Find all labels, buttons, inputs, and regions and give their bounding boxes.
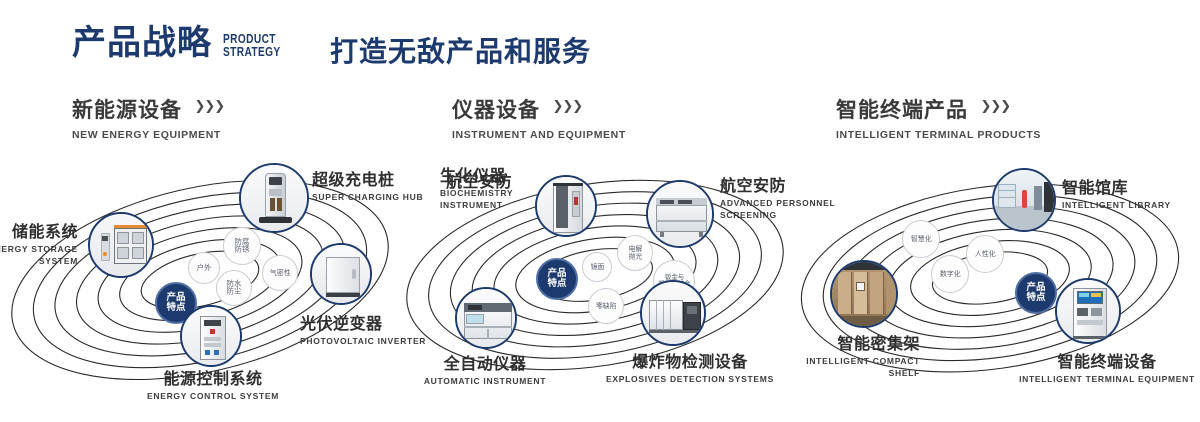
- node-label-cn: 能源控制系统: [108, 365, 318, 389]
- section-heading-cn: 仪器设备: [452, 94, 540, 124]
- control-cabinet-photo: [182, 307, 240, 365]
- node-label-energy-control: 能源控制系统 ENERGY CONTROL SYSTEM: [108, 365, 318, 401]
- feature-bubble-line2: 防锈: [235, 246, 250, 254]
- compact-shelf-photo: [832, 262, 896, 326]
- section-heading-terminal: 智能终端产品 ❯❯❯ INTELLIGENT TERMINAL PRODUCTS: [836, 94, 1041, 141]
- node-label-cn: 全自动仪器: [395, 350, 575, 374]
- automatic-instrument-photo: [457, 289, 515, 347]
- terminal-kiosk-photo: [1057, 280, 1119, 342]
- page-title: 产品战略: [72, 26, 212, 60]
- feature-bubble-zero-defect: 零缺陷: [588, 288, 624, 324]
- explosives-detector-photo: [642, 282, 704, 344]
- feature-bubble-waterproof: 防水 防尘: [216, 270, 252, 306]
- core-bubble: 产品 特点: [1015, 272, 1057, 314]
- personnel-screening-photo: [648, 182, 712, 246]
- node-label-en-line1: BIOCHEMISTRY: [440, 188, 570, 198]
- node-photovoltaic-inverter[interactable]: [310, 243, 372, 305]
- feature-bubble-mirror: 镜面: [582, 252, 612, 282]
- page-title-english-line2: STRATEGY: [223, 45, 281, 58]
- core-bubble-line2: 特点: [547, 279, 566, 289]
- feature-bubble-label: 数字化: [940, 270, 961, 277]
- feature-bubble-label: 户外: [197, 264, 212, 272]
- section-heading-instrument: 仪器设备 ❯❯❯ INSTRUMENT AND EQUIPMENT: [452, 94, 626, 141]
- node-label-cn: 智能终端设备: [1012, 348, 1200, 372]
- node-label-intelligent-library: 智能馆库 INTELLIGENT LIBRARY: [1062, 174, 1200, 210]
- chevron-right-icon: ❯❯❯: [194, 98, 224, 114]
- node-label-en-line2: INSTRUMENT: [440, 200, 570, 210]
- feature-bubble-anticorrosion: 防腐 防锈: [223, 227, 261, 265]
- page-title-english: PRODUCT STRATEGY: [223, 32, 281, 58]
- battery-cabinet-photo: [90, 214, 152, 276]
- node-label-terminal-kiosk: 智能终端设备 INTELLIGENT TERMINAL EQUIPMENT: [1012, 348, 1200, 384]
- feature-bubble-line2: 防尘: [227, 288, 242, 296]
- node-energy-control[interactable]: [180, 305, 242, 367]
- node-label-en: AUTOMATIC INSTRUMENT: [395, 376, 575, 386]
- section-heading-cn: 智能终端产品: [836, 94, 968, 124]
- feature-bubble-label: 气密性: [270, 269, 291, 276]
- section-heading-en: INTELLIGENT TERMINAL PRODUCTS: [836, 129, 1041, 141]
- feature-bubble-label: 镜面: [590, 263, 604, 270]
- node-label-en-line2: SYSTEM: [0, 256, 78, 266]
- core-bubble: 产品 特点: [536, 258, 578, 300]
- feature-bubble-humanized: 人性化: [966, 235, 1004, 273]
- node-personnel-screening[interactable]: [646, 180, 714, 248]
- node-terminal-kiosk[interactable]: [1055, 278, 1121, 344]
- node-energy-storage[interactable]: [88, 212, 154, 278]
- feature-bubble-digital: 数字化: [931, 255, 969, 293]
- feature-bubble-outdoor: 户外: [188, 252, 220, 284]
- feature-bubble-smart: 智慧化: [902, 220, 940, 258]
- poster-header: 产品战略 PRODUCT STRATEGY: [72, 26, 297, 60]
- node-label-en-line1: ENERGY STORAGE: [0, 244, 78, 254]
- feature-bubble-line2: 抛光: [628, 253, 642, 260]
- node-label-energy-storage: 储能系统 ENERGY STORAGE SYSTEM: [0, 218, 78, 266]
- node-explosives-detection[interactable]: [640, 280, 706, 346]
- node-label-automatic-instrument: 全自动仪器 AUTOMATIC INSTRUMENT: [395, 350, 575, 386]
- feature-bubble-label: 零缺陷: [596, 302, 617, 309]
- chevron-right-icon: ❯❯❯: [552, 98, 582, 114]
- node-label-compact-shelf: 智能密集架 INTELLIGENT COMPACT SHELF: [730, 330, 920, 378]
- section-heading-en: INSTRUMENT AND EQUIPMENT: [452, 129, 626, 141]
- section-heading-new-energy: 新能源设备 ❯❯❯ NEW ENERGY EQUIPMENT: [72, 94, 224, 141]
- feature-bubble-label: 智慧化: [911, 235, 932, 242]
- node-label-en: INTELLIGENT TERMINAL EQUIPMENT: [1012, 374, 1200, 384]
- feature-bubble-airtight: 气密性: [262, 255, 298, 291]
- node-charging-hub[interactable]: [239, 163, 309, 233]
- chevron-right-icon: ❯❯❯: [980, 98, 1010, 114]
- node-label-en-line2: SHELF: [730, 368, 920, 378]
- node-label-en: INTELLIGENT LIBRARY: [1062, 200, 1200, 210]
- node-label-biochemistry: 生化仪器 BIOCHEMISTRY INSTRUMENT: [440, 162, 570, 210]
- section-heading-en: NEW ENERGY EQUIPMENT: [72, 129, 224, 141]
- slogan: 打造无敌产品和服务: [330, 30, 591, 70]
- node-compact-shelf[interactable]: [830, 260, 898, 328]
- node-label-cn: 智能馆库: [1062, 174, 1200, 198]
- product-strategy-poster: 产品战略 PRODUCT STRATEGY 打造无敌产品和服务 新能源设备 ❯❯…: [0, 0, 1200, 422]
- node-label-cn: 储能系统: [0, 218, 78, 242]
- node-label-cn: 智能密集架: [730, 330, 920, 354]
- inverter-photo: [312, 245, 370, 303]
- node-label-en-line1: INTELLIGENT COMPACT: [730, 356, 920, 366]
- diagram-group-terminal: 产品 特点 智慧化 数字化 人性化 智能馆库: [800, 150, 1200, 410]
- node-intelligent-library[interactable]: [992, 168, 1056, 232]
- core-bubble-line2: 特点: [1026, 293, 1045, 303]
- node-label-cn: 生化仪器: [440, 162, 570, 186]
- node-label-en: ENERGY CONTROL SYSTEM: [108, 391, 318, 401]
- intelligent-library-photo: [994, 170, 1054, 230]
- feature-bubble-label: 人性化: [975, 250, 996, 257]
- charging-pile-photo: [241, 165, 307, 231]
- node-automatic-instrument[interactable]: [455, 287, 517, 349]
- section-heading-cn: 新能源设备: [72, 94, 182, 124]
